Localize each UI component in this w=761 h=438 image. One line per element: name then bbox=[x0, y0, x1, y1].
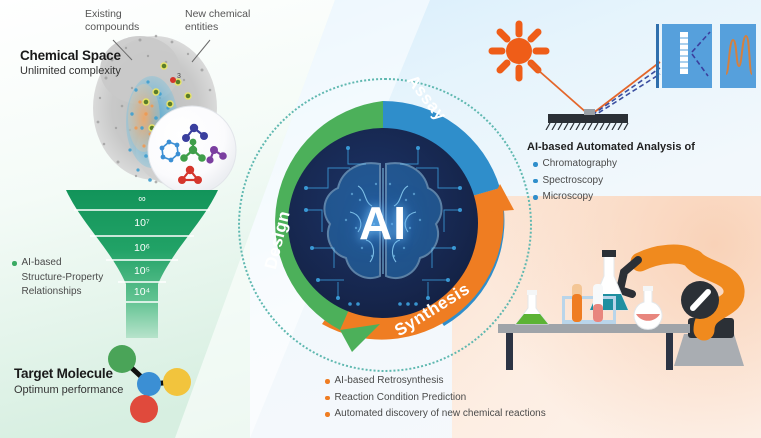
funnel-level-1: 10⁷ bbox=[62, 210, 222, 236]
analysis-item-2: Microscopy bbox=[533, 190, 747, 205]
analysis-instrument-graphic bbox=[488, 18, 756, 130]
funnel-note: AI-based Structure-Property Relationship… bbox=[12, 256, 132, 302]
atom-yellow bbox=[163, 368, 191, 396]
infographic-canvas: 3 bbox=[0, 0, 761, 438]
target-molecule-title: Target Molecule bbox=[14, 366, 123, 381]
synthesis-text-block: AI-based Retrosynthesis Reaction Conditi… bbox=[325, 374, 625, 424]
funnel-note-line2: Structure-Property bbox=[22, 272, 104, 283]
chemical-space-title: Chemical Space bbox=[20, 48, 121, 63]
funnel-note-line1: AI-based bbox=[22, 257, 62, 268]
svg-text:3: 3 bbox=[177, 73, 181, 80]
bullet-icon bbox=[533, 162, 538, 167]
analysis-text-block: AI-based Automated Analysis of Chromatog… bbox=[527, 141, 747, 207]
target-molecule-subtitle: Optimum performance bbox=[14, 384, 123, 396]
atom-blue bbox=[137, 372, 161, 396]
bullet-icon bbox=[325, 396, 330, 401]
analysis-item-0: Chromatography bbox=[533, 157, 747, 172]
synthesis-item-2: Automated discovery of new chemical reac… bbox=[325, 407, 625, 422]
bullet-icon bbox=[325, 379, 330, 384]
analysis-item-1: Spectroscopy bbox=[533, 174, 747, 189]
robot-lab-graphic bbox=[498, 238, 760, 370]
target-molecule-block: Target Molecule Optimum performance bbox=[14, 366, 123, 396]
molecule-magnifier-inset bbox=[138, 104, 250, 196]
funnel-note-line3: Relationships bbox=[22, 286, 82, 297]
synthesis-item-0: AI-based Retrosynthesis bbox=[325, 374, 625, 389]
funnel-note-item: AI-based Structure-Property Relationship… bbox=[12, 256, 132, 300]
bullet-icon bbox=[12, 261, 17, 266]
chemical-space-heading-block: Chemical Space Unlimited complexity bbox=[20, 48, 121, 77]
bullet-icon bbox=[325, 412, 330, 417]
callout-existing-line1: Existing bbox=[85, 8, 139, 21]
callout-new-line1: New chemical bbox=[185, 8, 250, 21]
atom-red bbox=[130, 395, 158, 423]
callout-existing-line2: compounds bbox=[85, 21, 139, 34]
synthesis-item-1: Reaction Condition Prediction bbox=[325, 391, 625, 406]
bullet-icon bbox=[533, 179, 538, 184]
bullet-icon bbox=[533, 195, 538, 200]
callout-new-line2: entities bbox=[185, 21, 250, 34]
callout-new-chemical-entities: New chemical entities bbox=[185, 8, 250, 34]
analysis-heading: AI-based Automated Analysis of bbox=[527, 141, 747, 153]
funnel-level-0: ∞ bbox=[62, 188, 222, 210]
callout-existing-compounds: Existing compounds bbox=[85, 8, 139, 34]
chemical-space-subtitle: Unlimited complexity bbox=[20, 65, 121, 77]
